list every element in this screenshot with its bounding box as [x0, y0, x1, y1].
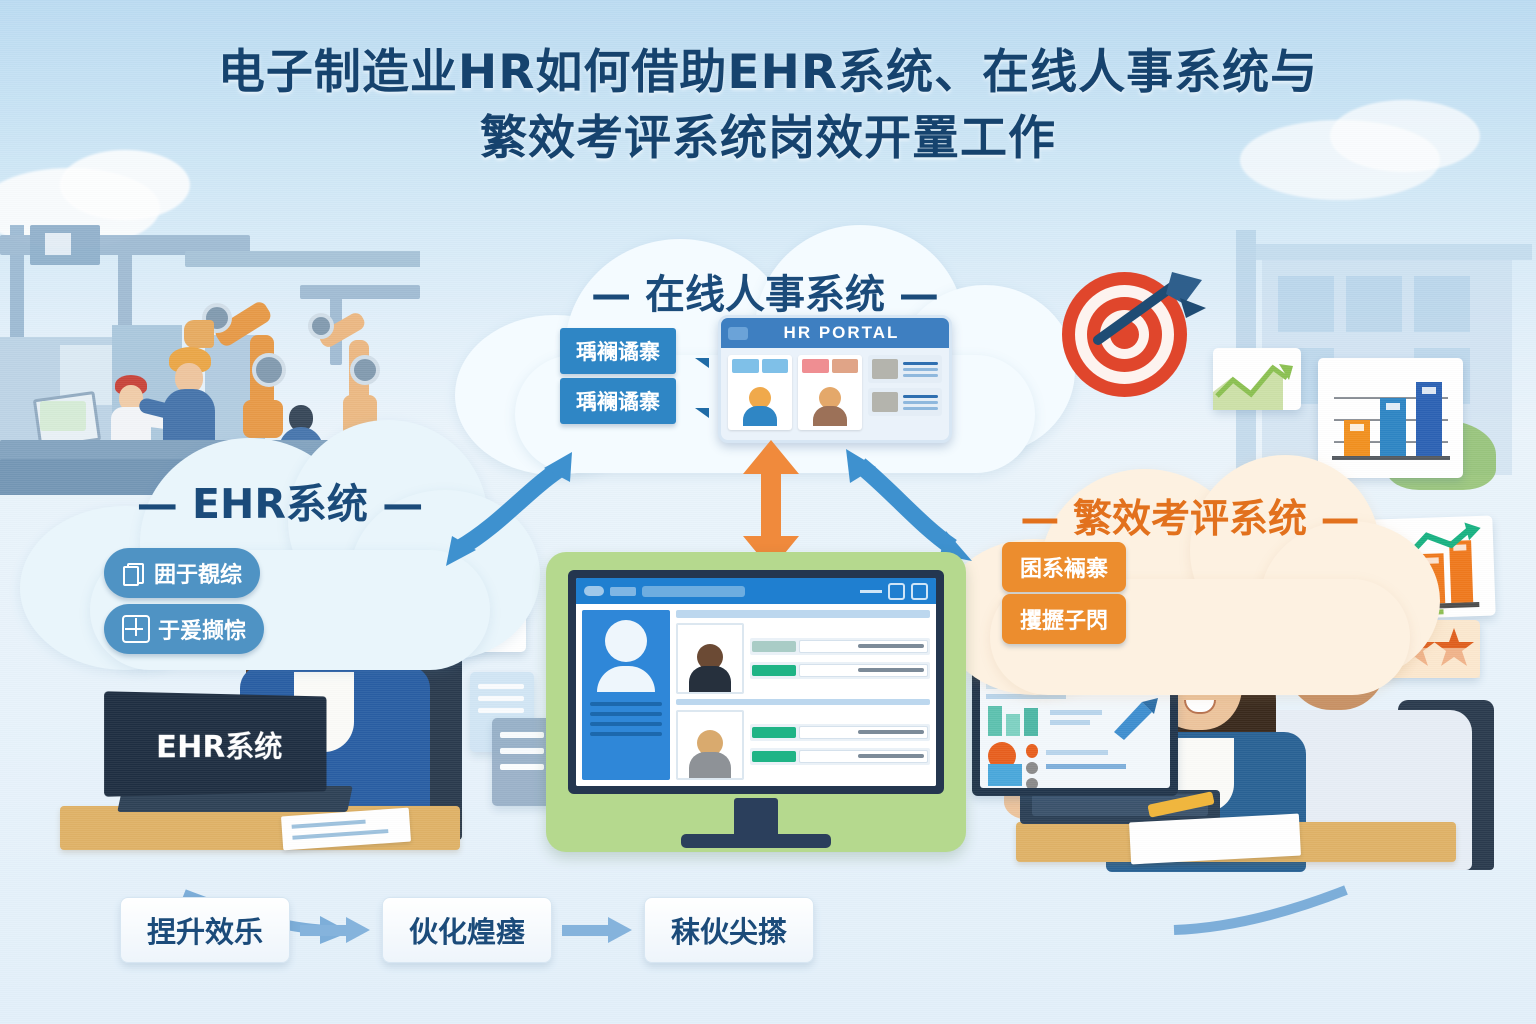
- table-row[interactable]: [676, 623, 930, 694]
- hr-portal-rows: [868, 355, 942, 430]
- ehr-tag-2[interactable]: 于爰撷悰: [104, 604, 264, 654]
- documents-icon: [122, 561, 146, 585]
- list-header: [676, 610, 930, 618]
- performance-tag-1[interactable]: 囷系裲寨: [1002, 542, 1126, 592]
- minimize-icon[interactable]: [860, 590, 882, 593]
- paper-document-right: [1129, 814, 1301, 865]
- avatar-body: [597, 666, 655, 692]
- ehr-tag-1-label: 囲于覩综: [154, 557, 242, 589]
- avatar: [605, 620, 647, 662]
- online-tag-1[interactable]: 瑀襕谲寨: [560, 328, 676, 374]
- connector-arrow-center-vertical: [735, 440, 807, 570]
- laptop-screen-ehr[interactable]: EHR系统: [104, 691, 326, 796]
- account-icon[interactable]: [911, 583, 928, 600]
- hr-portal-title: HR PORTAL: [748, 323, 949, 343]
- thumbnail-icon: [872, 392, 898, 412]
- monitor-inner-frame: [568, 570, 944, 794]
- avatar: [802, 376, 858, 426]
- outcome-flow: 捏升效乐 伙化煌瘗 秣伙尖搽: [120, 885, 1420, 975]
- ehr-tag-2-label: 于爰撷悰: [158, 613, 246, 645]
- tag-tail: [695, 408, 709, 418]
- avatar: [732, 376, 788, 426]
- list-item[interactable]: [868, 388, 942, 416]
- settings-icon[interactable]: [888, 583, 905, 600]
- employee-list: [676, 610, 930, 780]
- thumbnail-icon: [872, 359, 898, 379]
- laptop-screen-label: EHR系统: [156, 721, 282, 766]
- record-card: [492, 718, 554, 806]
- monitor-stand-neck: [734, 798, 778, 838]
- infographic-canvas: — EHR系统 — 囲于覩综 于爰撷悰 — 在线人事系统 — 瑀襕谲寨: [0, 0, 1536, 1024]
- flow-arrow-icon: [562, 917, 634, 943]
- online-tag-2-label: 瑀襕谲寨: [576, 386, 660, 416]
- monitor-stand-base: [681, 834, 831, 848]
- performance-tag-2[interactable]: 攫攊子閃: [1002, 594, 1126, 644]
- hr-portal-titlebar: HR PORTAL: [721, 318, 949, 348]
- dart-arrow-icon: [1080, 268, 1210, 358]
- title-line-2: 繁效考评系统岗效开罿工作: [0, 106, 1536, 172]
- dashboard-content: [576, 604, 936, 786]
- tag-tail: [695, 358, 709, 368]
- browser-tab[interactable]: [610, 587, 636, 596]
- employee-photo: [676, 623, 744, 694]
- central-hr-dashboard-monitor[interactable]: [546, 552, 966, 852]
- cloud-performance-title: — 繁效考评系统 —: [940, 488, 1440, 544]
- window-dot-icon: [728, 327, 748, 340]
- flow-step-3[interactable]: 秣伙尖搽: [644, 897, 814, 963]
- employee-photo: [676, 710, 744, 781]
- trend-chart-card: [1213, 348, 1301, 410]
- browser-toolbar: [576, 578, 936, 604]
- performance-tag-1-label: 囷系裲寨: [1020, 551, 1108, 583]
- table-row[interactable]: [676, 710, 930, 781]
- employee-id-card[interactable]: [798, 355, 862, 430]
- page-title: 电子制造业HR如何借助EHR系统、在线人事系统与 繁效考评系统岗效开罿工作: [0, 40, 1536, 172]
- address-bar[interactable]: [642, 586, 745, 597]
- monitor-screen[interactable]: [576, 578, 936, 786]
- hr-portal-card[interactable]: HR PORTAL: [718, 315, 952, 443]
- flow-arrow-icon: [300, 917, 372, 943]
- flow-step-2[interactable]: 伙化煌瘗: [382, 897, 552, 963]
- hr-portal-body: [721, 348, 949, 437]
- list-item[interactable]: [868, 355, 942, 383]
- title-line-1: 电子制造业HR如何借助EHR系统、在线人事系统与: [0, 40, 1536, 106]
- flow-step-1[interactable]: 捏升效乐: [120, 897, 290, 963]
- online-tag-1-label: 瑀襕谲寨: [576, 336, 660, 366]
- employee-id-card[interactable]: [728, 355, 792, 430]
- grid-icon: [122, 615, 150, 643]
- browser-dot-icon: [584, 586, 604, 596]
- ehr-tag-1[interactable]: 囲于覩综: [104, 548, 260, 598]
- online-tag-2[interactable]: 瑀襕谲寨: [560, 378, 676, 424]
- performance-tag-2-label: 攫攊子閃: [1020, 603, 1108, 635]
- profile-sidebar: [582, 610, 670, 780]
- cloud-online-title: — 在线人事系统 —: [455, 262, 1075, 320]
- list-divider: [676, 699, 930, 705]
